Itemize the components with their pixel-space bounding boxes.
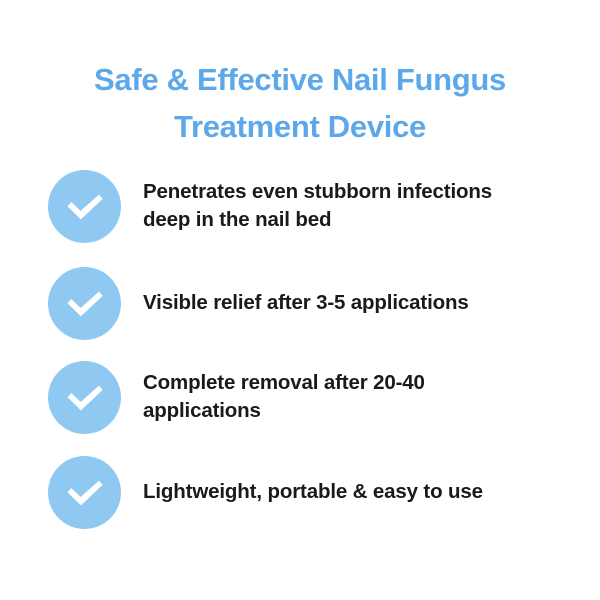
feature-text: Complete removal after 20-40 application… bbox=[121, 361, 548, 425]
check-circle-icon bbox=[48, 267, 121, 340]
feature-text-line-1: Complete removal after 20-40 bbox=[143, 369, 548, 397]
list-item: Visible relief after 3-5 applications bbox=[48, 267, 548, 341]
check-circle-icon bbox=[48, 170, 121, 243]
feature-text-line-1: Visible relief after 3-5 applications bbox=[143, 289, 548, 317]
promo-graphic-canvas: Safe & Effective Nail Fungus Treatment D… bbox=[0, 0, 600, 600]
feature-text-line-1: Penetrates even stubborn infections bbox=[143, 178, 548, 206]
check-circle-icon bbox=[48, 456, 121, 529]
feature-text: Penetrates even stubborn infections deep… bbox=[121, 170, 548, 234]
list-item: Complete removal after 20-40 application… bbox=[48, 361, 548, 435]
feature-text: Lightweight, portable & easy to use bbox=[121, 456, 548, 506]
feature-list: Penetrates even stubborn infections deep… bbox=[0, 0, 600, 600]
feature-text-line-1: Lightweight, portable & easy to use bbox=[143, 478, 548, 506]
check-circle-icon bbox=[48, 361, 121, 434]
list-item: Lightweight, portable & easy to use bbox=[48, 456, 548, 530]
list-item: Penetrates even stubborn infections deep… bbox=[48, 170, 548, 244]
feature-text-line-2: applications bbox=[143, 397, 548, 425]
feature-text: Visible relief after 3-5 applications bbox=[121, 267, 548, 317]
feature-text-line-2: deep in the nail bed bbox=[143, 206, 548, 234]
